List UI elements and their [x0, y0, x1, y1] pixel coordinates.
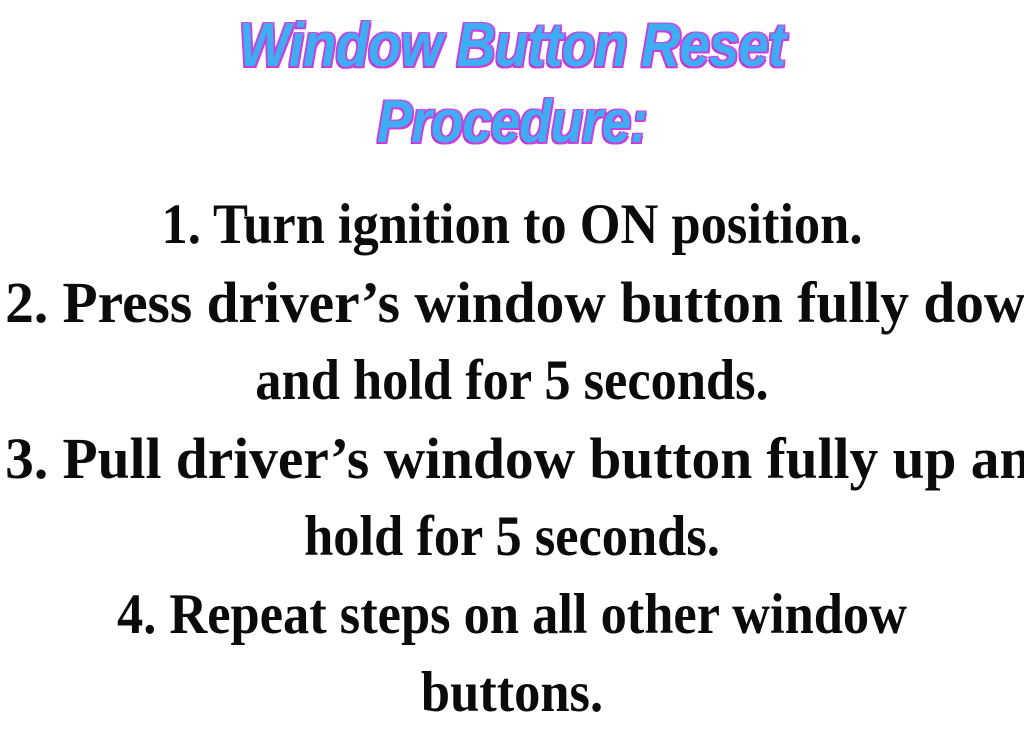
step-4-line-2: buttons.: [41, 654, 983, 731]
steps-list: 1. Turn ignition to ON position. 2. Pres…: [0, 186, 1024, 731]
step-2-line-2: and hold for 5 seconds.: [41, 342, 983, 420]
instruction-graphic: Window Button Reset Procedure: 1. Turn i…: [0, 0, 1024, 731]
step-3-line-1: 3. Pull driver’s window button fully up …: [5, 420, 1019, 498]
step-1-line-1: 1. Turn ignition to ON position.: [41, 186, 983, 264]
heading-line-1: Window Button Reset: [61, 8, 962, 84]
step-4-line-1: 4. Repeat steps on all other window: [41, 576, 983, 654]
step-3-line-2: hold for 5 seconds.: [41, 498, 983, 576]
heading-line-2: Procedure:: [61, 84, 962, 160]
step-2-line-1: 2. Press driver’s window button fully do…: [5, 264, 1019, 342]
heading-block: Window Button Reset Procedure:: [0, 8, 1024, 160]
